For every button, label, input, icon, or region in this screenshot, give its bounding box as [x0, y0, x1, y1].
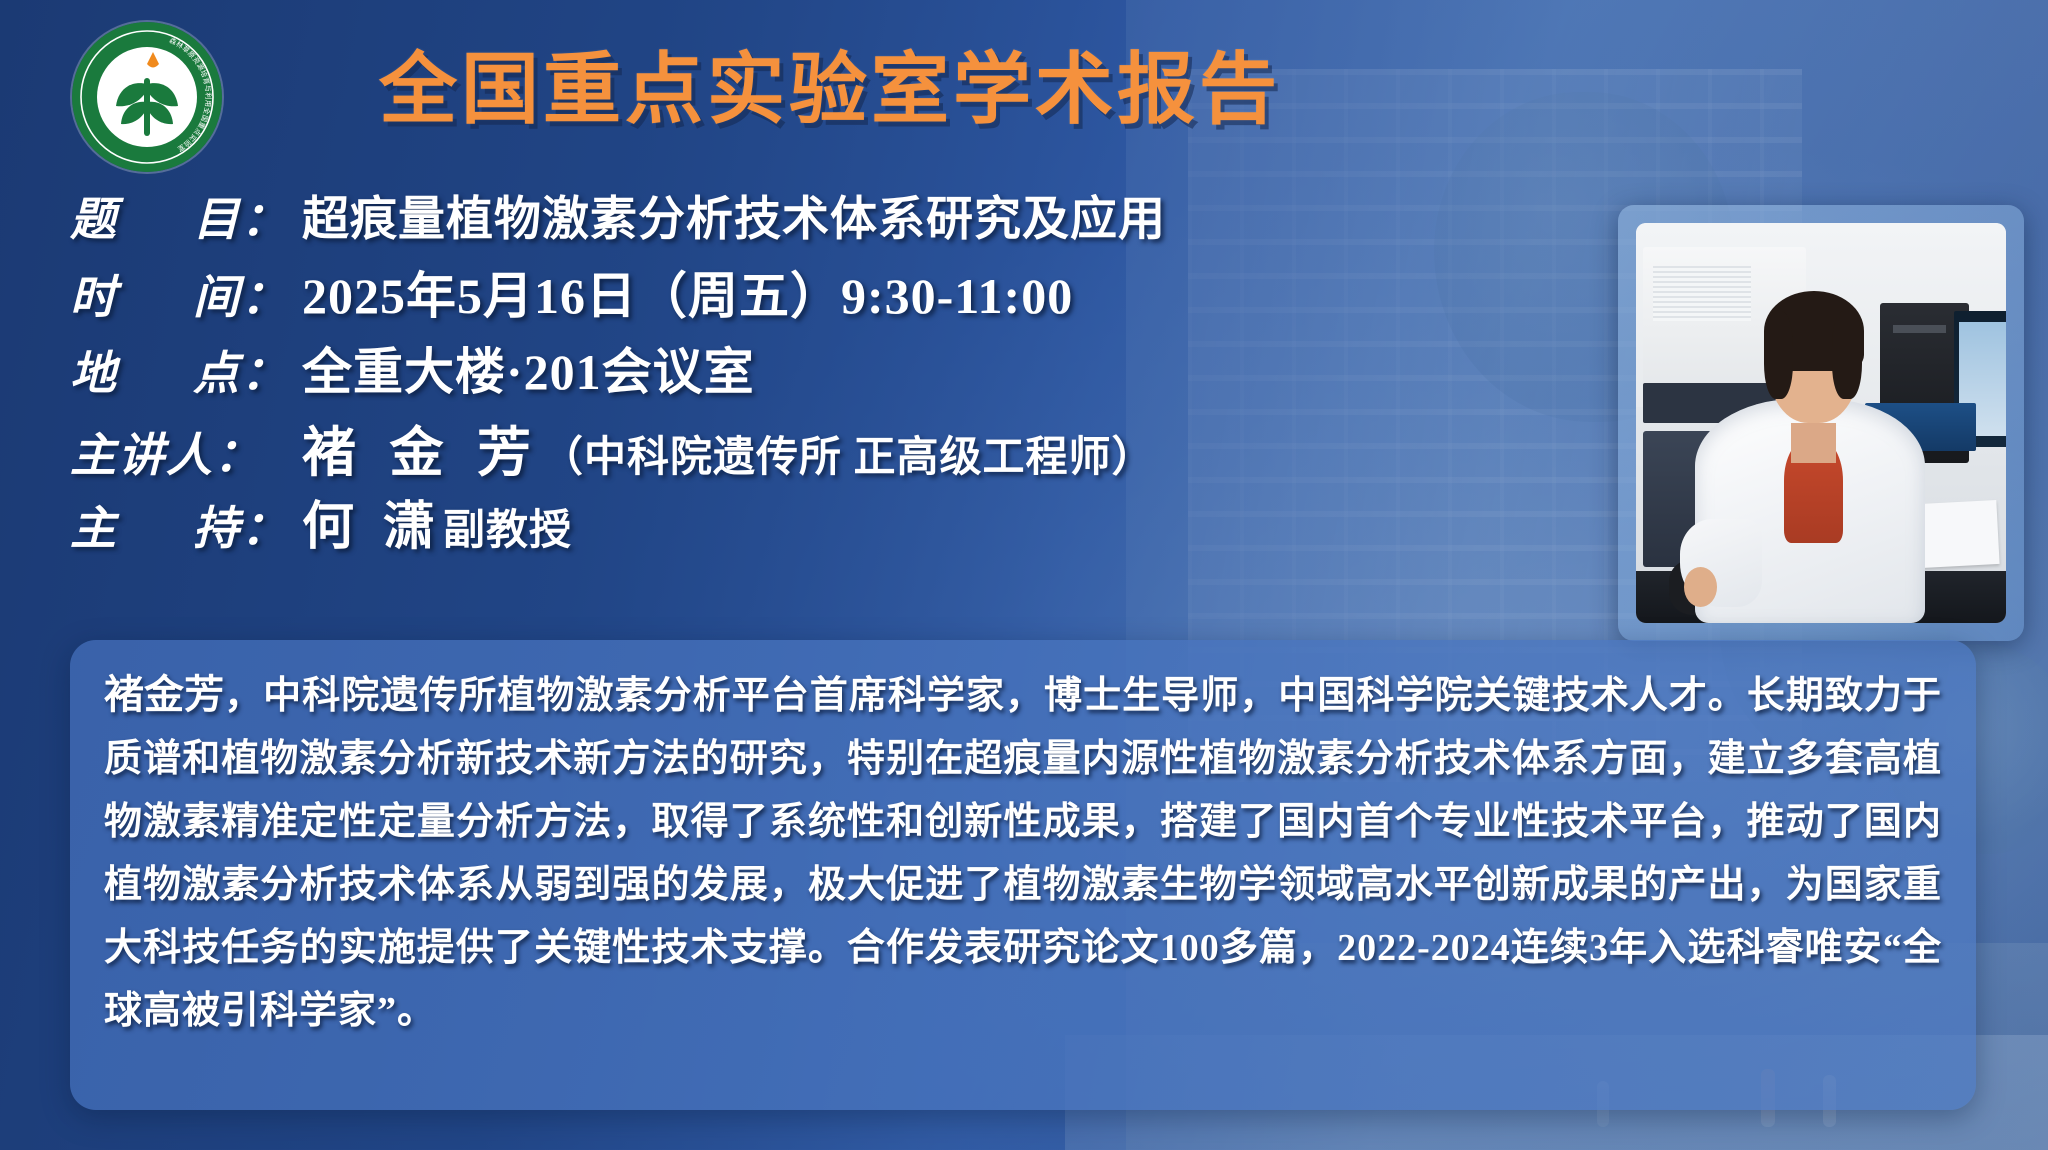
info-row-location: 地 点： 全重大楼·201会议室: [70, 332, 1610, 394]
info-label-host: 主 持：: [70, 492, 302, 558]
info-label-topic: 题 目：: [70, 183, 302, 249]
speaker-portrait-image: [1636, 223, 2006, 623]
info-value-time: 2025年5月16日（周五）9:30-11:00: [302, 256, 1073, 328]
info-value-location: 全重大楼·201会议室: [302, 332, 755, 404]
info-label-time: 时 间：: [70, 261, 302, 327]
info-value-speaker-affiliation: （中科院遗传所 正高级工程师）: [541, 423, 1155, 484]
info-value-speaker-name: 褚 金 芳: [302, 408, 541, 487]
portrait-hair: [1764, 311, 1794, 399]
info-value-host-name: 何 潇: [302, 484, 443, 559]
info-row-speaker: 主讲人： 褚 金 芳 （中科院遗传所 正高级工程师）: [70, 408, 1610, 470]
info-row-host: 主 持： 何 潇 副教授: [70, 484, 1610, 546]
poster-root: 森林草原资源培育与利用全国重点实验室 全国重点实验室学术报告 题 目： 超痕量植…: [0, 0, 2048, 1150]
laboratory-logo-icon: 森林草原资源培育与利用全国重点实验室: [72, 22, 222, 172]
speaker-bio-panel: 褚金芳，中科院遗传所植物激素分析平台首席科学家，博士生导师，中国科学院关键技术人…: [70, 640, 1976, 1110]
info-row-topic: 题 目： 超痕量植物激素分析技术体系研究及应用: [70, 180, 1610, 242]
info-row-time: 时 间： 2025年5月16日（周五）9:30-11:00: [70, 256, 1610, 318]
speaker-bio-body: ，中科院遗传所植物激素分析平台首席科学家，博士生导师，中国科学院关键技术人才。长…: [104, 675, 1942, 1032]
info-label-speaker: 主讲人：: [70, 419, 302, 485]
page-title: 全国重点实验室学术报告: [300, 28, 1360, 138]
event-info-list: 题 目： 超痕量植物激素分析技术体系研究及应用 时 间： 2025年5月16日（…: [70, 180, 1610, 560]
info-value-host-title: 副教授: [443, 496, 572, 557]
speaker-portrait-frame: [1618, 205, 2024, 641]
speaker-bio-text: 褚金芳，中科院遗传所植物激素分析平台首席科学家，博士生导师，中国科学院关键技术人…: [104, 664, 1942, 1043]
info-label-location: 地 点：: [70, 337, 302, 403]
portrait-hair: [1832, 311, 1862, 399]
info-value-topic: 超痕量植物激素分析技术体系研究及应用: [302, 180, 1166, 249]
poster-header: 森林草原资源培育与利用全国重点实验室 全国重点实验室学术报告: [0, 0, 2048, 170]
portrait-neck: [1791, 423, 1835, 463]
speaker-bio-name: 褚金芳: [104, 672, 224, 718]
